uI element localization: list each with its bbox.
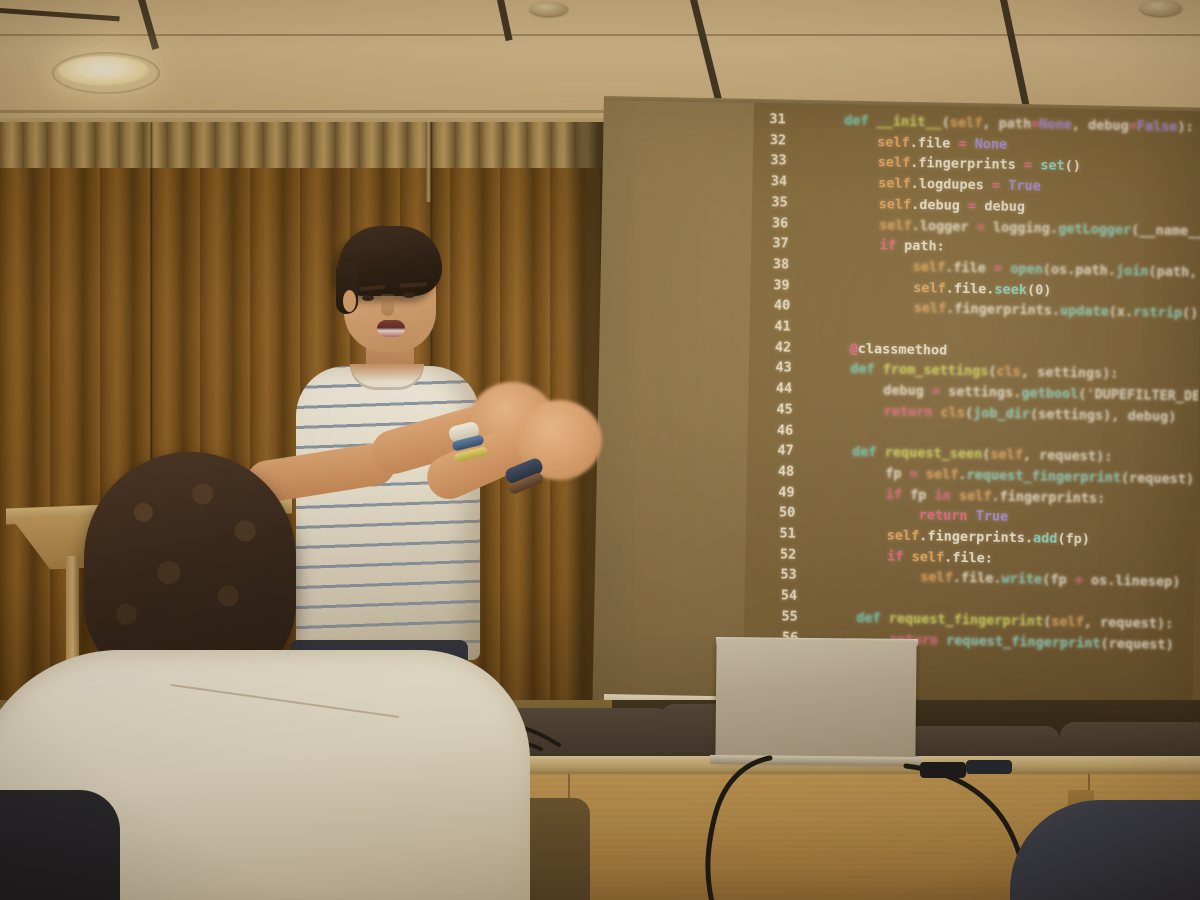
line-number: 48 [760, 461, 794, 482]
speaker-striped-tshirt [296, 366, 480, 660]
code-text: if path: [814, 234, 944, 257]
line-number: 50 [761, 502, 795, 523]
ceiling-grid-line [0, 8, 120, 21]
ceiling-grid-line [1000, 0, 1030, 108]
line-number: 37 [754, 233, 788, 254]
code-listing: 31 def __init__(self, path=None, debug=F… [592, 100, 1200, 711]
line-number: 33 [752, 150, 786, 171]
line-number: 36 [754, 212, 788, 233]
speaker-mouth [377, 320, 405, 337]
ceiling-seam [0, 34, 1200, 36]
line-number: 40 [756, 295, 790, 316]
power-cable [640, 752, 780, 900]
line-number: 38 [755, 254, 789, 275]
line-number: 46 [759, 420, 793, 441]
photo-scene: 31 def __init__(self, path=None, debug=F… [0, 0, 1200, 900]
line-number: 31 [751, 109, 785, 130]
attendee-left-edge [0, 790, 120, 900]
code-line: 41 [756, 316, 816, 338]
speaker-nose [381, 294, 394, 316]
code-text: self.file.write(fp + os.linesep) [822, 566, 1180, 594]
speaker-eye [362, 295, 374, 301]
ceiling-grid-line [138, 0, 159, 50]
speaker-eye [403, 292, 415, 298]
line-number: 47 [759, 440, 793, 461]
curtain-header [0, 122, 612, 168]
smoke-detector-icon [530, 2, 568, 16]
line-number: 44 [758, 378, 792, 399]
line-number: 54 [763, 585, 797, 606]
code-line: 40 self.fingerprints.update(x.rstrip() f… [756, 295, 1200, 327]
line-number: 53 [763, 565, 797, 586]
line-number: 51 [762, 523, 796, 544]
code-text: @classmethod [817, 338, 947, 361]
speaker-ear [343, 290, 356, 312]
line-number: 45 [758, 399, 792, 420]
ceiling-downlight-icon [58, 56, 150, 86]
code-line: 54 [763, 585, 823, 607]
code-text: self.fingerprints.update(x.rstrip() for … [816, 296, 1200, 327]
line-number: 52 [762, 544, 796, 565]
presenter-laptop[interactable] [715, 639, 916, 761]
line-number: 41 [756, 316, 790, 337]
code-line: 53 self.file.write(fp + os.linesep) [763, 565, 1181, 594]
line-number: 42 [757, 337, 791, 358]
line-number: 55 [764, 606, 798, 627]
line-number: 49 [760, 482, 794, 503]
projector-screen: 31 def __init__(self, path=None, debug=F… [592, 100, 1200, 711]
cable-connector [920, 762, 966, 778]
smoke-detector-icon [1140, 0, 1182, 16]
code-line: 46 [759, 420, 819, 442]
line-number: 35 [753, 192, 787, 213]
line-number: 39 [755, 275, 789, 296]
ceiling-grid-line [690, 0, 724, 109]
line-number: 43 [757, 357, 791, 378]
line-number: 32 [752, 130, 786, 151]
line-number: 34 [753, 171, 787, 192]
